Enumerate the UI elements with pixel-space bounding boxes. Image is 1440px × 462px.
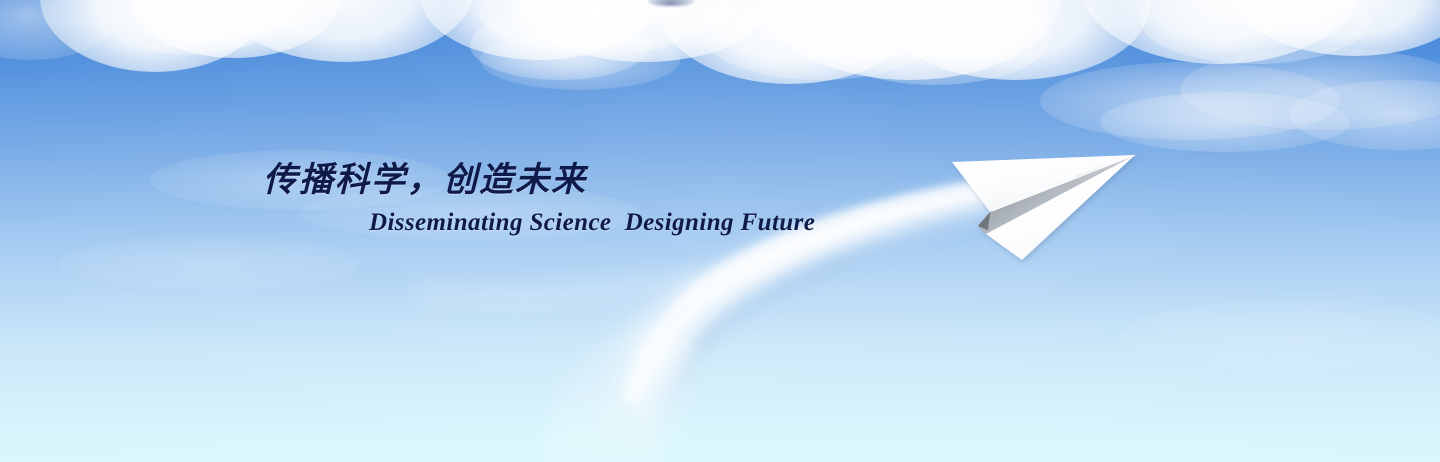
cloud-icon (1080, 0, 1360, 64)
cloud-icon (215, 0, 475, 62)
cloud-icon (1100, 92, 1350, 152)
cloud-icon (820, 0, 1050, 85)
sky-banner: 传播科学，创造未来 Disseminating Science Designin… (0, 0, 1440, 462)
plane-keel (978, 155, 1135, 234)
top-edge-smudge (648, 0, 694, 6)
cloud-icon (1120, 300, 1440, 370)
plane-nose-shade (1076, 155, 1135, 182)
cloud-icon (0, 0, 120, 60)
cloud-icon (1230, 0, 1440, 56)
cloud-icon (700, 0, 940, 80)
cloud-icon (1040, 62, 1340, 140)
cloud-icon (480, 30, 680, 90)
cloud-icon (1180, 48, 1440, 130)
cloud-icon (130, 0, 340, 58)
cloud-icon (60, 236, 360, 292)
cloud-icon (480, 0, 710, 56)
cloud-icon (760, 0, 1060, 80)
cloud-icon (520, 0, 770, 62)
cloud-icon (95, 0, 285, 55)
tagline-chinese: 传播科学，创造未来 (263, 152, 587, 201)
tagline-block: 传播科学，创造未来 Disseminating Science Designin… (0, 0, 1440, 462)
tagline-english: Disseminating Science Designing Future (369, 209, 815, 237)
cloud-icon (40, 0, 270, 72)
cloud-icon (1140, 0, 1370, 64)
plane-far-wing (952, 155, 1135, 212)
cloud-icon (880, 0, 1150, 80)
plane-crease-highlight (992, 155, 1135, 211)
cloud-icon (470, 10, 650, 80)
cloud-icon (660, 0, 920, 84)
paper-airplane-icon (930, 130, 1160, 280)
cloud-icon (1290, 80, 1440, 150)
cloud-icon (420, 0, 660, 60)
plane-near-wing (986, 155, 1135, 260)
plane-fold-shadow (978, 212, 990, 230)
